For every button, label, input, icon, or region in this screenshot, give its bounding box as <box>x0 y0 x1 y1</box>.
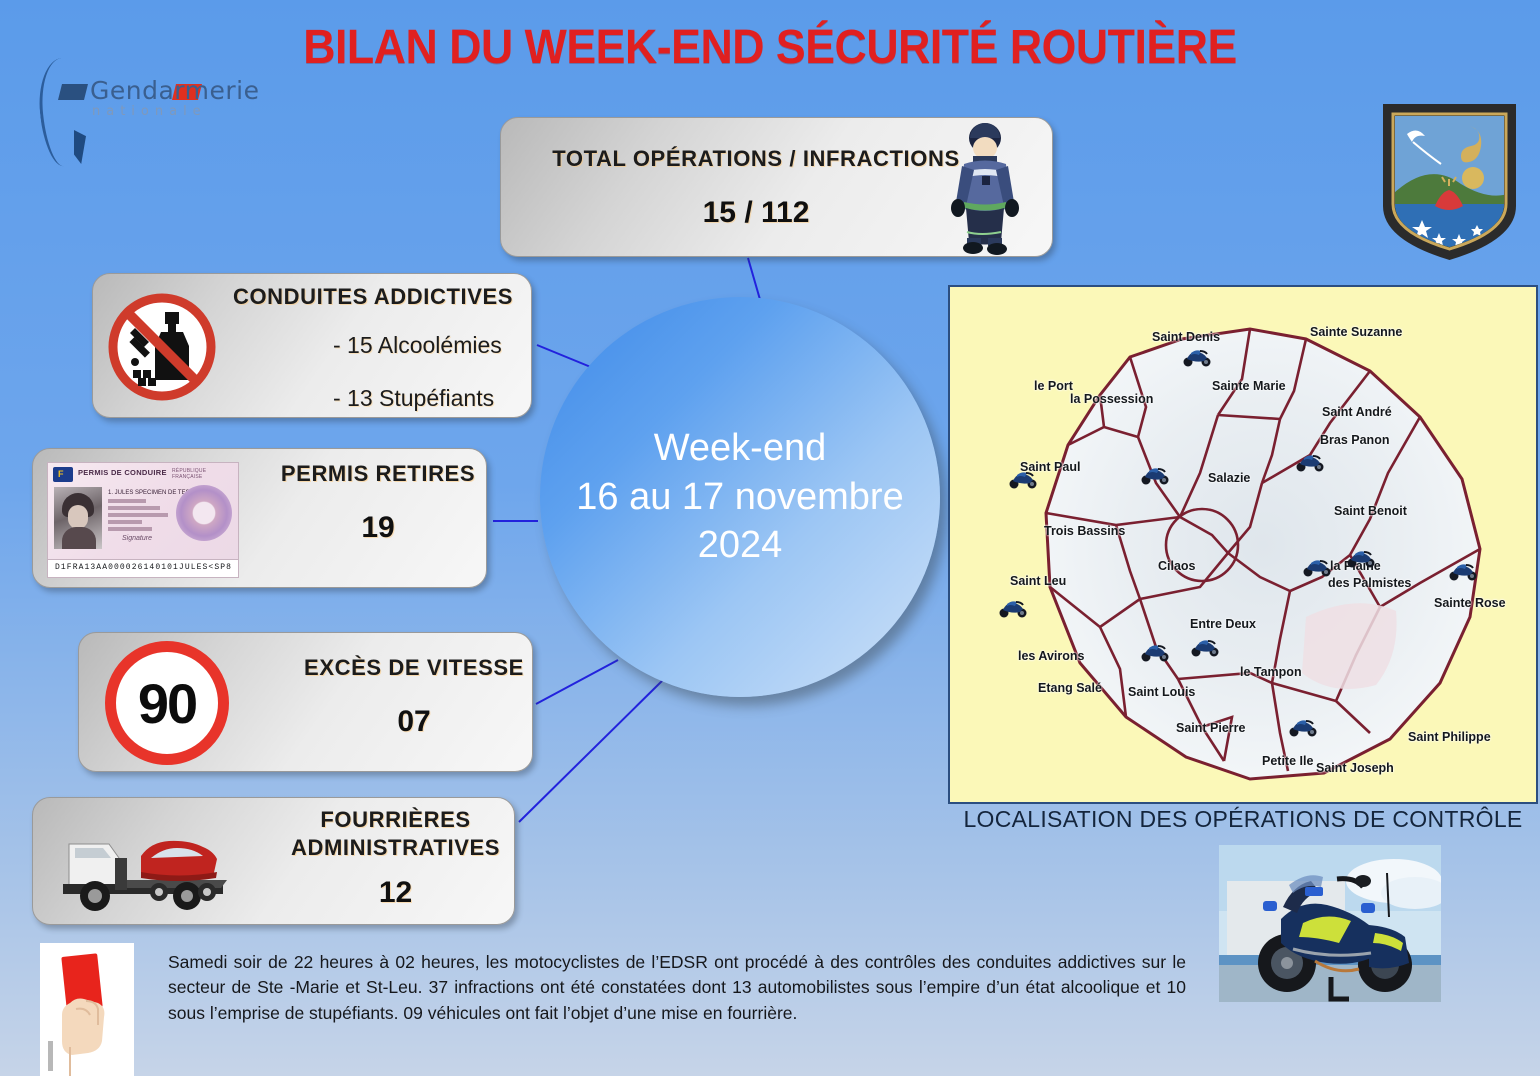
card-exces-de-vitesse[interactable]: EXCÈS DE VITESSE 07 90 <box>78 632 533 772</box>
gendarmerie-blue-square-icon <box>58 84 88 100</box>
commune-label: Sainte Marie <box>1212 379 1286 393</box>
hand-holding-red-card-photo <box>40 943 134 1076</box>
no-alcohol-drugs-icon <box>105 290 220 405</box>
gendarme-figure-icon <box>940 120 1030 255</box>
motorcycle-control-pin-icon <box>1140 642 1170 662</box>
gendarmerie-logo: Gendarmerie nationale <box>22 58 232 178</box>
card-fourrieres-administratives[interactable]: FOURRIÈRES ADMINISTRATIVES 12 <box>32 797 515 925</box>
commune-label: des Palmistes <box>1328 576 1411 590</box>
commune-label: les Avirons <box>1018 649 1084 663</box>
commune-label: Sainte Suzanne <box>1310 325 1402 339</box>
commune-label: Bras Panon <box>1320 433 1389 447</box>
card-total-title: TOTAL OPÉRATIONS / INFRACTIONS <box>541 146 971 172</box>
card-fourrieres-title-line-1: FOURRIÈRES <box>278 806 513 834</box>
commune-label: Saint Benoit <box>1334 504 1407 518</box>
tow-truck-icon <box>55 814 271 916</box>
motorcycle-control-pin-icon <box>1346 548 1376 568</box>
motorcycle-control-pin-icon <box>1302 557 1332 577</box>
card-permis-value: 19 <box>263 511 493 545</box>
commune-label: Saint Denis <box>1152 330 1220 344</box>
card-total-operations[interactable]: TOTAL OPÉRATIONS / INFRACTIONS 15 / 112 <box>500 117 1053 257</box>
motorcycle-control-pin-icon <box>1140 465 1170 485</box>
gendarmerie-logo-subtitle: nationale <box>92 104 207 119</box>
card-vitesse-value: 07 <box>289 705 539 739</box>
card-total-value: 15 / 112 <box>541 196 971 230</box>
motorcycle-control-pin-icon <box>1448 561 1478 581</box>
commune-label: la Possession <box>1070 392 1153 406</box>
footer-description: Samedi soir de 22 heures à 02 heures, le… <box>168 950 1186 1026</box>
commune-label: Saint Pierre <box>1176 721 1245 735</box>
license-header: PERMIS DE CONDUIRE <box>78 468 167 477</box>
motorcycle-control-pin-icon <box>998 598 1028 618</box>
reunion-gendarmerie-emblem <box>1377 98 1522 264</box>
card-permis-retires[interactable]: PERMIS RETIRES 19 F PERMIS DE CONDUIRE R… <box>32 448 487 588</box>
motorcycle-control-pin-icon <box>1182 347 1212 367</box>
commune-label: Etang Salé <box>1038 681 1102 695</box>
speed-limit-value: 90 <box>138 671 196 736</box>
commune-label: Cilaos <box>1158 559 1196 573</box>
commune-label: Saint André <box>1322 405 1392 419</box>
center-line-3: 2024 <box>698 521 783 570</box>
card-addictive-line-1: - 15 Alcoolémies <box>333 332 502 359</box>
map-caption: LOCALISATION DES OPÉRATIONS DE CONTRÔLE <box>948 806 1538 833</box>
commune-label: le Tampon <box>1240 665 1302 679</box>
commune-label: Saint Joseph <box>1316 761 1394 775</box>
commune-label: Trois Bassins <box>1044 524 1125 538</box>
commune-label: Petite Ile <box>1262 754 1313 768</box>
card-conduites-addictives[interactable]: CONDUITES ADDICTIVES - 15 Alcoolémies - … <box>92 273 532 418</box>
motorcycle-control-pin-icon <box>1008 469 1038 489</box>
map-panel[interactable]: Saint DenisSainte Suzannele Portla Posse… <box>948 285 1538 804</box>
center-line-2: 16 au 17 novembre <box>576 473 903 522</box>
motorcycle-control-pin-icon <box>1190 637 1220 657</box>
motorcycle-control-pin-icon <box>1288 717 1318 737</box>
card-addictive-line-2: - 13 Stupéfiants <box>333 385 494 412</box>
license-country: RÉPUBLIQUE FRANÇAISE <box>172 468 238 480</box>
commune-label: Saint Louis <box>1128 685 1195 699</box>
card-fourrieres-title: FOURRIÈRES ADMINISTRATIVES <box>278 806 513 861</box>
card-vitesse-title: EXCÈS DE VITESSE <box>289 655 539 681</box>
motorcycle-control-pin-icon <box>1295 452 1325 472</box>
commune-label: Sainte Rose <box>1434 596 1506 610</box>
speed-limit-90-sign-icon: 90 <box>105 641 229 765</box>
commune-label: le Port <box>1034 379 1073 393</box>
license-mrz: D1FRA13AA000026140101JULES<SP8 <box>55 563 232 572</box>
commune-label: Saint Leu <box>1010 574 1066 588</box>
central-week-end-circle: Week-end 16 au 17 novembre 2024 <box>540 297 940 697</box>
commune-label: Salazie <box>1208 471 1250 485</box>
center-line-1: Week-end <box>654 424 827 473</box>
driving-license-icon: F PERMIS DE CONDUIRE RÉPUBLIQUE FRANÇAIS… <box>47 462 239 578</box>
license-signature-label: Signature <box>122 535 152 542</box>
card-fourrieres-value: 12 <box>278 876 513 910</box>
card-addictive-title: CONDUITES ADDICTIVES <box>223 284 523 310</box>
commune-label: Entre Deux <box>1190 617 1256 631</box>
commune-label: Saint Philippe <box>1408 730 1491 744</box>
gendarmerie-motorcycle-photo <box>1219 845 1441 1002</box>
page-title: BILAN DU WEEK-END SÉCURITÉ ROUTIÈRE <box>54 20 1486 75</box>
card-permis-title: PERMIS RETIRES <box>263 461 493 487</box>
gendarmerie-logo-word: Gendarmerie <box>90 76 259 105</box>
card-fourrieres-title-line-2: ADMINISTRATIVES <box>278 834 513 862</box>
